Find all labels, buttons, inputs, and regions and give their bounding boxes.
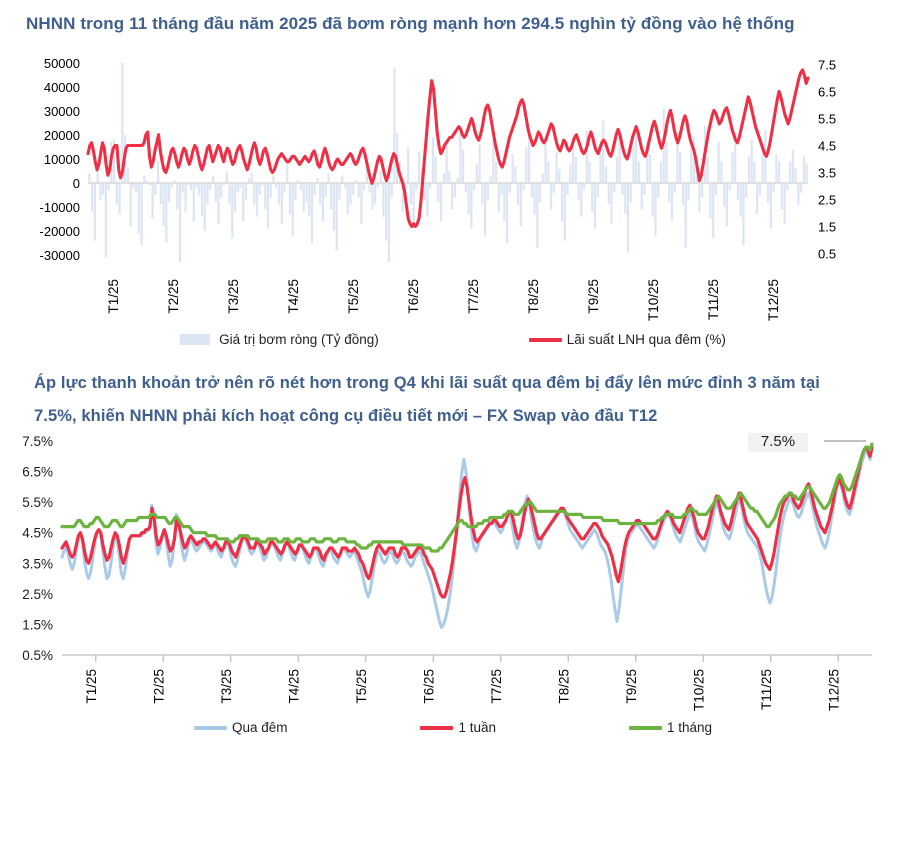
- chart2-ytick: 3.5%: [22, 556, 53, 571]
- chart2-xtick-T11-25: T11/25: [759, 669, 774, 710]
- chart2-ytick: 5.5%: [22, 495, 53, 510]
- legend-item-overnight: Qua đêm: [194, 720, 288, 735]
- chart2-ytick: 4.5%: [22, 526, 53, 541]
- legend-label-one-week: 1 tuần: [458, 720, 496, 735]
- chart1-ytick-left: -20000: [40, 224, 80, 239]
- line-swatch-icon: [529, 338, 562, 342]
- chart1-xtick-T11-25: T11/25: [706, 279, 721, 320]
- line-swatch-icon: [629, 726, 662, 730]
- legend-item-net-injection: Giá trị bơm ròng (Tỷ đồng): [180, 332, 379, 347]
- legend-item-one-week: 1 tuần: [420, 720, 496, 735]
- chart1-xtick-T1-25: T1/25: [106, 279, 121, 314]
- chart1-plot-area: 50000400003000020000100000-10000-20000-3…: [0, 39, 906, 334]
- chart2-ytick: 7.5%: [22, 434, 53, 449]
- chart2-svg: 7.5%6.5%5.5%4.5%3.5%2.5%1.5%0.5%7.5%T1/2…: [0, 433, 906, 718]
- chart2-title: Áp lực thanh khoản trở nên rõ nét hơn tr…: [0, 359, 906, 433]
- chart2-xtick-T7-25: T7/25: [489, 669, 504, 704]
- chart2-ytick: 6.5%: [22, 465, 53, 480]
- chart-panel-1: NHNN trong 11 tháng đầu năm 2025 đã bơm …: [0, 0, 906, 347]
- chart1-xtick-T6-25: T6/25: [406, 279, 421, 314]
- chart1-legend: Giá trị bơm ròng (Tỷ đồng) Lãi suất LNH …: [0, 332, 906, 347]
- bar-swatch-icon: [180, 334, 210, 345]
- chart1-xtick-T5-25: T5/25: [346, 279, 361, 314]
- chart1-ytick-left: -10000: [40, 200, 80, 215]
- chart1-xtick-T10-25: T10/25: [646, 279, 661, 321]
- legend-label-overnight: Qua đêm: [232, 720, 288, 735]
- chart1-xtick-T12-25: T12/25: [766, 279, 781, 321]
- chart1-bars: [88, 63, 807, 262]
- chart1-title: NHNN trong 11 tháng đầu năm 2025 đã bơm …: [0, 0, 906, 39]
- chart1-ytick-left: 10000: [44, 152, 80, 167]
- chart1-ytick-right: 5.5: [818, 112, 836, 127]
- chart1-ytick-left: 30000: [44, 104, 80, 119]
- chart2-ytick: 1.5%: [22, 617, 53, 632]
- chart1-svg: 50000400003000020000100000-10000-20000-3…: [0, 39, 906, 334]
- chart1-xtick-T2-25: T2/25: [166, 279, 181, 314]
- chart2-xtick-T9-25: T9/25: [624, 669, 639, 704]
- chart1-ytick-right: 0.5: [818, 247, 836, 262]
- chart1-ytick-right: 6.5: [818, 85, 836, 100]
- chart2-xtick-T2-25: T2/25: [151, 669, 166, 704]
- chart2-xtick-T10-25: T10/25: [691, 669, 706, 711]
- chart2-xtick-T6-25: T6/25: [421, 669, 436, 704]
- chart2-xtick-T4-25: T4/25: [286, 669, 301, 704]
- chart1-xtick-T8-25: T8/25: [526, 279, 541, 314]
- chart2-legend: Qua đêm 1 tuần 1 tháng: [0, 720, 906, 735]
- chart2-ytick: 2.5%: [22, 587, 53, 602]
- chart1-ytick-right: 1.5: [818, 220, 836, 235]
- chart-panel-2: Áp lực thanh khoản trở nên rõ nét hơn tr…: [0, 359, 906, 735]
- legend-label-overnight-rate: Lãi suất LNH qua đêm (%): [567, 332, 726, 347]
- chart1-ytick-left: 20000: [44, 128, 80, 143]
- legend-item-one-month: 1 tháng: [629, 720, 712, 735]
- chart2-ytick: 0.5%: [22, 648, 53, 663]
- chart2-xtick-T8-25: T8/25: [556, 669, 571, 704]
- chart2-plot-area: 7.5%6.5%5.5%4.5%3.5%2.5%1.5%0.5%7.5%T1/2…: [0, 433, 906, 718]
- legend-item-overnight-rate: Lãi suất LNH qua đêm (%): [529, 332, 726, 347]
- line-swatch-icon: [420, 726, 453, 730]
- chart2-xtick-T12-25: T12/25: [826, 669, 841, 711]
- legend-label-one-month: 1 tháng: [667, 720, 712, 735]
- chart1-ytick-right: 2.5: [818, 193, 836, 208]
- chart1-ytick-right: 7.5: [818, 58, 836, 73]
- chart2-xtick-T1-25: T1/25: [84, 669, 99, 704]
- legend-label-net-injection: Giá trị bơm ròng (Tỷ đồng): [219, 332, 379, 347]
- chart2-xtick-T3-25: T3/25: [219, 669, 234, 704]
- line-swatch-icon: [194, 726, 227, 730]
- chart1-xtick-T3-25: T3/25: [226, 279, 241, 314]
- chart2-annotation-label: 7.5%: [761, 433, 795, 450]
- chart1-ytick-left: 0: [73, 176, 80, 191]
- chart2-xtick-T5-25: T5/25: [354, 669, 369, 704]
- chart1-xtick-T7-25: T7/25: [466, 279, 481, 314]
- chart1-ytick-left: 50000: [44, 56, 80, 71]
- chart1-xtick-T4-25: T4/25: [286, 279, 301, 314]
- chart1-ytick-right: 3.5: [818, 166, 836, 181]
- chart1-ytick-right: 4.5: [818, 139, 836, 154]
- chart1-xtick-T9-25: T9/25: [586, 279, 601, 314]
- chart1-ytick-left: 40000: [44, 80, 80, 95]
- chart1-ytick-left: -30000: [40, 248, 80, 263]
